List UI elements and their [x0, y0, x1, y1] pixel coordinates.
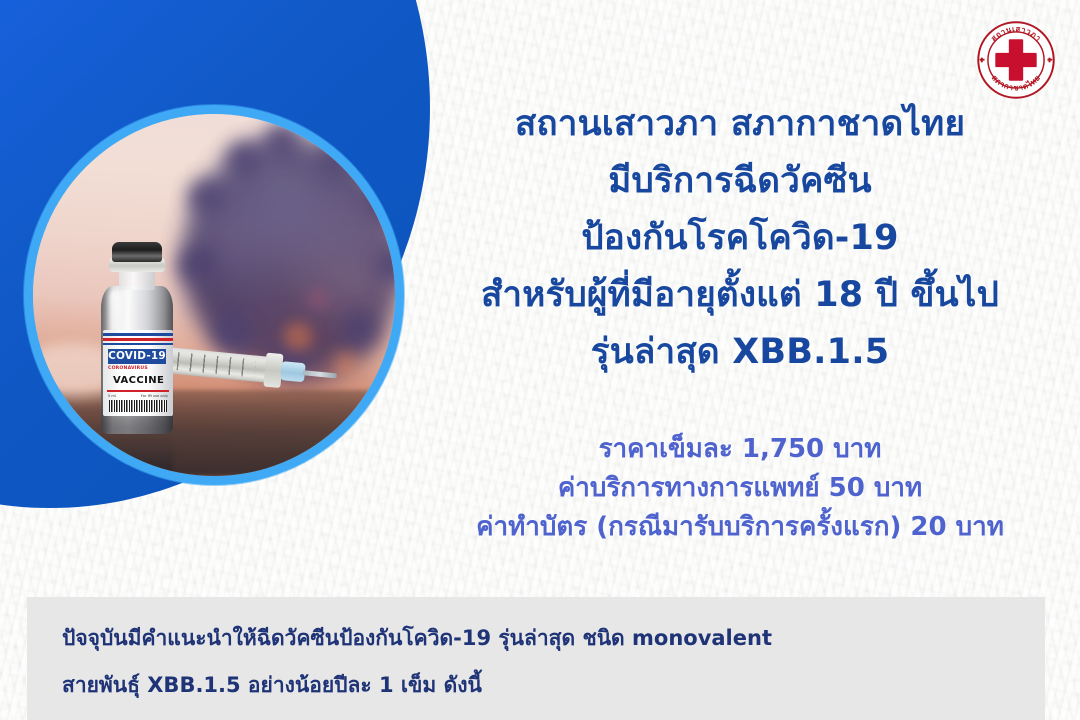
vial-label-barcode — [109, 400, 167, 412]
price-card-fee: ค่าทำบัตร (กรณีมารับบริการครั้งแรก) 20 บ… — [420, 508, 1060, 547]
note-text: ปัจจุบันมีคำแนะนำให้ฉีดวัคซีนป้องกันโควิ… — [62, 615, 1012, 709]
vaccine-photo: COVID-19 CORONAVIRUS VACCINE 5 ml For IM… — [33, 114, 395, 476]
note-line-1: ปัจจุบันมีคำแนะนำให้ฉีดวัคซีนป้องกันโควิ… — [62, 615, 1012, 662]
headline-line-2: มีบริการฉีดวัคซีน — [420, 153, 1060, 210]
thai-red-cross-seal-logo: สถานเสาวภา สภากาชาดไทย — [970, 14, 1062, 106]
price-medical-service: ค่าบริการทางการแพทย์ 50 บาท — [420, 469, 1060, 508]
note-banner: ปัจจุบันมีคำแนะนำให้ฉีดวัคซีนป้องกันโควิ… — [27, 597, 1045, 720]
table-surface — [33, 390, 395, 476]
vial-cap — [112, 242, 162, 262]
headline-line-3: ป้องกันโรคโควิด-19 — [420, 210, 1060, 267]
price-block: ราคาเข็มละ 1,750 บาท ค่าบริการทางการแพทย… — [420, 430, 1060, 547]
poster-canvas: COVID-19 CORONAVIRUS VACCINE 5 ml For IM… — [0, 0, 1080, 720]
vial-label-title: COVID-19 — [108, 349, 166, 364]
note-line-2: สายพันธุ์ XBB.1.5 อย่างน้อยปีละ 1 เข็ม ด… — [62, 662, 1012, 709]
vial-label-subtitle: CORONAVIRUS — [108, 366, 148, 371]
vial-label-volume-left: 5 ml — [108, 394, 116, 398]
headline-line-4: สำหรับผู้ที่มีอายุตั้งแต่ 18 ปี ขึ้นไป — [420, 267, 1060, 324]
bokeh-light — [309, 290, 327, 308]
headline-line-1: สถานเสาวภา สภากาชาดไทย — [420, 96, 1060, 153]
photo-ring: COVID-19 CORONAVIRUS VACCINE 5 ml For IM… — [24, 105, 404, 485]
vial-label-volume-right: For IM use only — [141, 394, 168, 398]
vial-label: COVID-19 CORONAVIRUS VACCINE 5 ml For IM… — [103, 330, 173, 416]
vaccine-vial: COVID-19 CORONAVIRUS VACCINE 5 ml For IM… — [95, 242, 179, 434]
headline-block: สถานเสาวภา สภากาชาดไทย มีบริการฉีดวัคซีน… — [420, 96, 1060, 381]
vial-label-product: VACCINE — [113, 375, 164, 386]
price-dose: ราคาเข็มละ 1,750 บาท — [420, 430, 1060, 469]
headline-line-5: รุ่นล่าสุด XBB.1.5 — [420, 324, 1060, 381]
bokeh-light — [283, 322, 313, 352]
